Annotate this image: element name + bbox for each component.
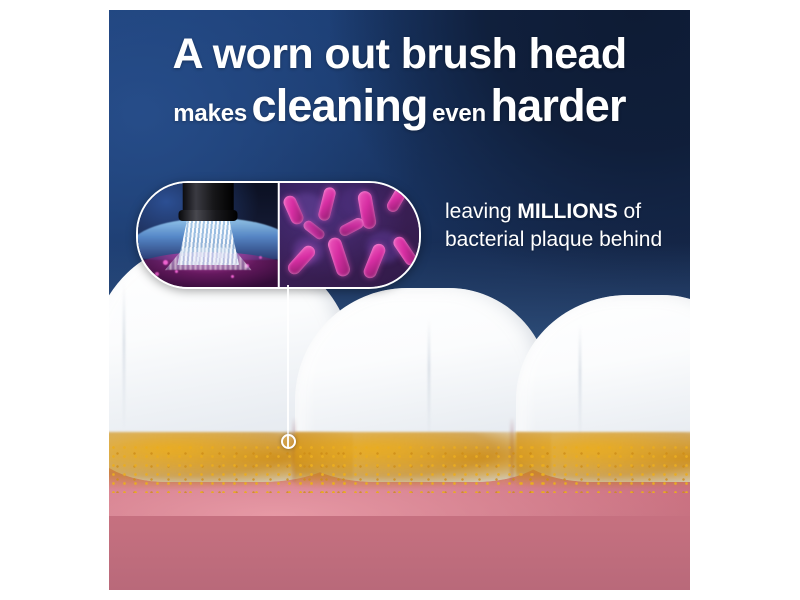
inset-panel-brush-head <box>138 183 279 287</box>
body-copy: leaving MILLIONS of bacterial plaque beh… <box>445 198 685 253</box>
body-copy-prefix: leaving <box>445 200 517 223</box>
headline-word-even: even <box>432 100 486 127</box>
inset-capsule <box>136 181 421 289</box>
bacterium <box>385 184 409 214</box>
headline-block: A worn out brush head makes cleaning eve… <box>109 29 690 142</box>
headline-word-cleaning: cleaning <box>251 80 427 131</box>
headline-word-makes: makes <box>173 100 247 127</box>
tooth-groove <box>428 319 430 439</box>
bacterium <box>337 216 365 238</box>
inset-panel-bacteria <box>279 183 420 287</box>
bacterium <box>317 186 337 222</box>
bacterium <box>326 236 352 278</box>
tooth-groove <box>579 325 581 441</box>
headline-line-1: A worn out brush head <box>109 29 690 79</box>
leader-endpoint-marker <box>281 434 296 449</box>
plaque-speck <box>231 275 234 278</box>
headline-line-2: makes cleaning even harder <box>109 81 690 142</box>
leader-line <box>287 285 289 448</box>
plaque-speck <box>259 256 262 259</box>
tartar-granules-right <box>516 443 690 493</box>
inset-panel-divider <box>277 183 280 287</box>
headline-word-harder: harder <box>490 80 625 131</box>
brush-head-ring <box>179 210 238 221</box>
body-copy-emphasis: MILLIONS <box>517 200 617 223</box>
advertisement-frame: A worn out brush head makes cleaning eve… <box>109 10 690 590</box>
tooth-groove <box>123 283 125 430</box>
tartar-granules-center <box>295 443 551 493</box>
